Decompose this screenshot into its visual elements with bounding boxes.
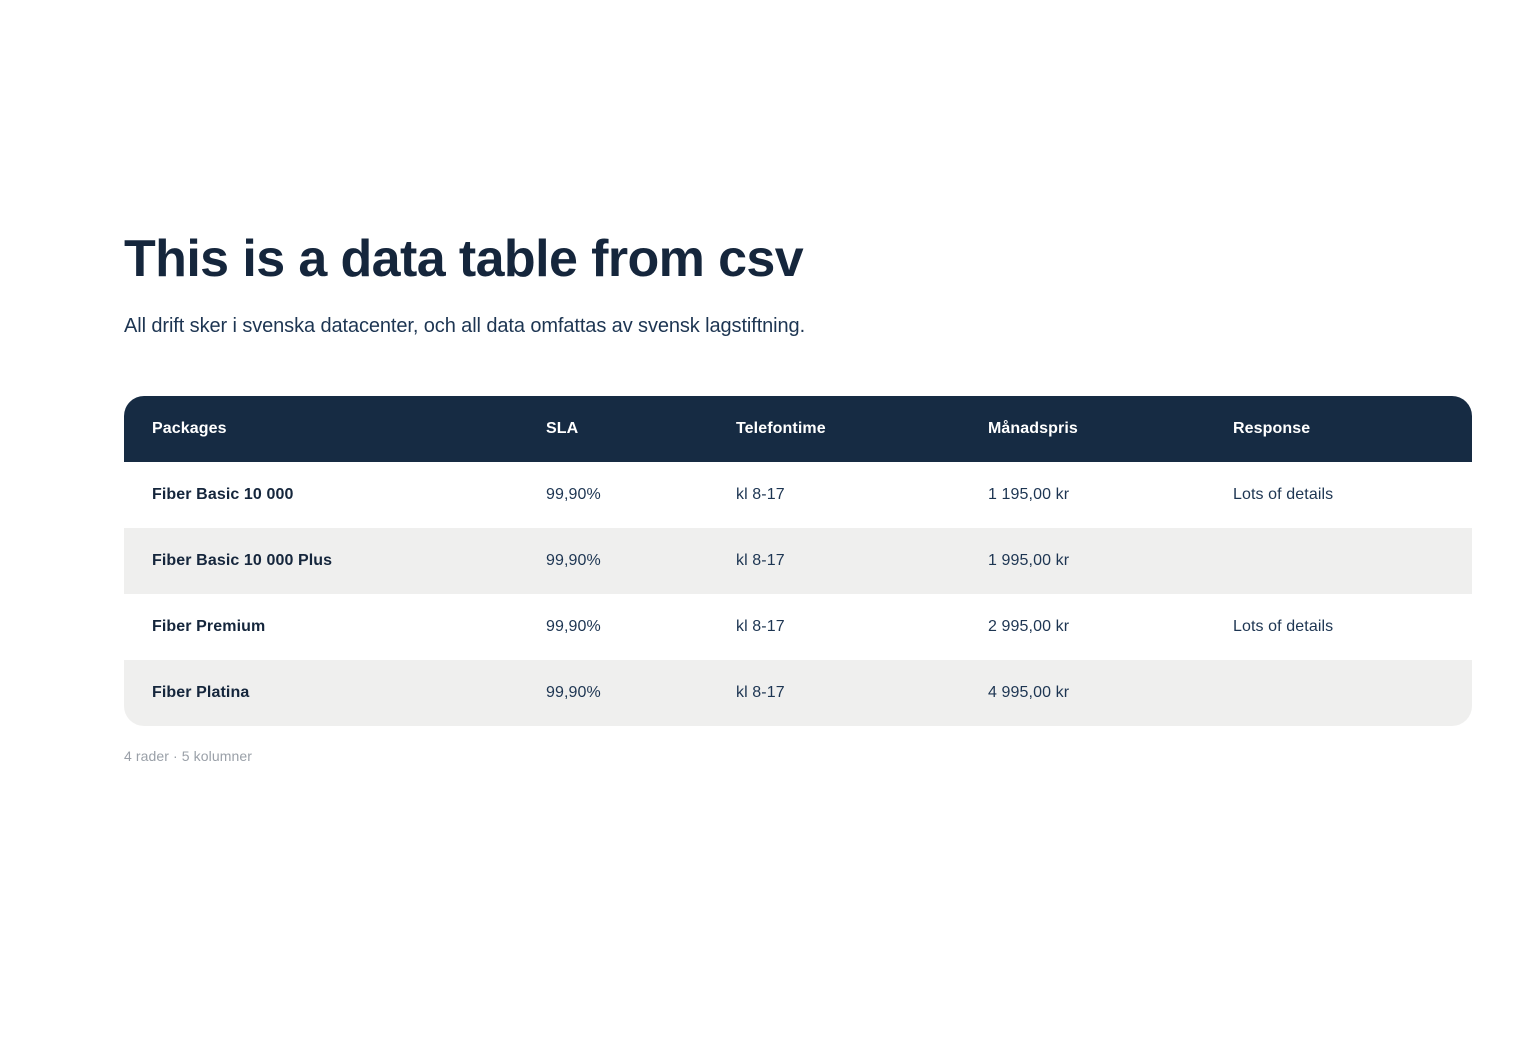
cell-response: Lots of details [1205, 594, 1472, 660]
page-title: This is a data table from csv [124, 228, 1472, 290]
cell-manadspris: 4 995,00 kr [960, 660, 1205, 726]
column-header-sla[interactable]: SLA [518, 396, 708, 462]
cell-manadspris: 2 995,00 kr [960, 594, 1205, 660]
data-table-container: Packages SLA Telefontime Månadspris Resp… [124, 396, 1472, 764]
cell-sla: 99,90% [518, 660, 708, 726]
cell-telefontime: kl 8-17 [708, 594, 960, 660]
column-header-response[interactable]: Response [1205, 396, 1472, 462]
table-row: Fiber Platina 99,90% kl 8-17 4 995,00 kr [124, 660, 1472, 726]
page-subtitle: All drift sker i svenska datacenter, och… [124, 312, 1472, 340]
cell-packages: Fiber Premium [124, 594, 518, 660]
content-container: This is a data table from csv All drift … [124, 228, 1472, 764]
cell-packages: Fiber Basic 10 000 [124, 462, 518, 528]
table-header: Packages SLA Telefontime Månadspris Resp… [124, 396, 1472, 462]
cell-telefontime: kl 8-17 [708, 660, 960, 726]
cell-manadspris: 1 995,00 kr [960, 528, 1205, 594]
table-row: Fiber Premium 99,90% kl 8-17 2 995,00 kr… [124, 594, 1472, 660]
cell-packages: Fiber Basic 10 000 Plus [124, 528, 518, 594]
table-body: Fiber Basic 10 000 99,90% kl 8-17 1 195,… [124, 462, 1472, 726]
cell-response [1205, 528, 1472, 594]
table-caption: 4 rader · 5 kolumner [124, 748, 1472, 764]
cell-sla: 99,90% [518, 528, 708, 594]
cell-manadspris: 1 195,00 kr [960, 462, 1205, 528]
cell-response [1205, 660, 1472, 726]
table-row: Fiber Basic 10 000 99,90% kl 8-17 1 195,… [124, 462, 1472, 528]
cell-telefontime: kl 8-17 [708, 462, 960, 528]
cell-telefontime: kl 8-17 [708, 528, 960, 594]
column-header-manadspris[interactable]: Månadspris [960, 396, 1205, 462]
column-header-packages[interactable]: Packages [124, 396, 518, 462]
table-header-row: Packages SLA Telefontime Månadspris Resp… [124, 396, 1472, 462]
table-row: Fiber Basic 10 000 Plus 99,90% kl 8-17 1… [124, 528, 1472, 594]
cell-sla: 99,90% [518, 462, 708, 528]
cell-sla: 99,90% [518, 594, 708, 660]
data-table: Packages SLA Telefontime Månadspris Resp… [124, 396, 1472, 726]
cell-packages: Fiber Platina [124, 660, 518, 726]
column-header-telefontime[interactable]: Telefontime [708, 396, 960, 462]
cell-response: Lots of details [1205, 462, 1472, 528]
page-root: This is a data table from csv All drift … [0, 0, 1533, 1040]
